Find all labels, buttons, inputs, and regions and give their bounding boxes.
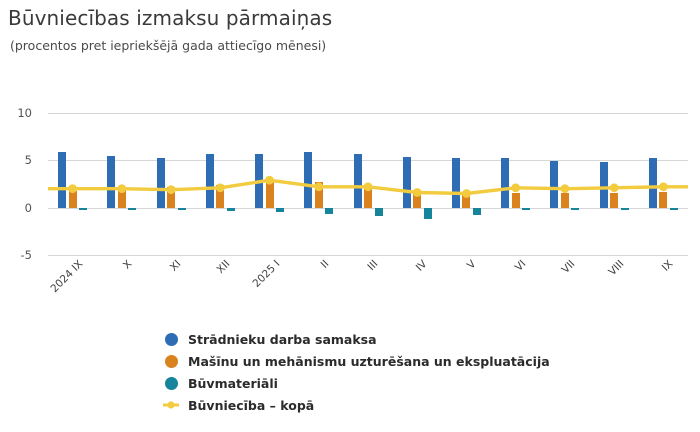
- x-axis-tick-label: X: [90, 258, 134, 302]
- bar-stradnieku[interactable]: [255, 154, 263, 208]
- bar-stradnieku[interactable]: [157, 158, 165, 207]
- bar-buvmateriali[interactable]: [473, 208, 481, 216]
- bar-buvmateriali[interactable]: [375, 208, 383, 217]
- legend-item-buvmateriali[interactable]: Būvmateriāli: [163, 373, 550, 393]
- bar-group: [58, 113, 87, 255]
- bar-buvmateriali[interactable]: [325, 208, 333, 215]
- chart-legend: Strādnieku darba samaksa Mašīnu un mehān…: [163, 329, 550, 417]
- bar-group: [354, 113, 383, 255]
- legend-item-stradnieku[interactable]: Strādnieku darba samaksa: [163, 329, 550, 349]
- x-axis-tick-label: V: [435, 258, 479, 302]
- bar-group: [304, 113, 333, 255]
- bar-masinu[interactable]: [610, 193, 618, 208]
- page-title: Būvniecības izmaksu pārmaiņas: [8, 6, 332, 30]
- bar-masinu[interactable]: [315, 182, 323, 208]
- bar-masinu[interactable]: [659, 192, 667, 208]
- bar-stradnieku[interactable]: [354, 154, 362, 208]
- plot-area: 1050-5: [48, 113, 688, 255]
- x-axis-tick-label: VI: [484, 258, 528, 302]
- bar-masinu[interactable]: [462, 193, 470, 208]
- bar-masinu[interactable]: [364, 185, 372, 208]
- bar-stradnieku[interactable]: [600, 162, 608, 207]
- bar-buvmateriali[interactable]: [79, 208, 87, 211]
- bar-buvmateriali[interactable]: [670, 208, 678, 210]
- bar-masinu[interactable]: [118, 190, 126, 208]
- bar-buvmateriali[interactable]: [227, 208, 235, 212]
- legend-label: Būvniecība – kopā: [188, 398, 314, 413]
- bar-stradnieku[interactable]: [452, 158, 460, 207]
- y-axis-tick-label: 5: [0, 153, 32, 167]
- legend-label: Būvmateriāli: [188, 376, 278, 391]
- x-axis-tick-label: VII: [534, 258, 578, 302]
- legend-swatch-orange-icon: [163, 353, 179, 369]
- bar-group: [649, 113, 678, 255]
- bar-group: [206, 113, 235, 255]
- y-axis-tick-label: -5: [0, 248, 32, 262]
- bar-buvmateriali[interactable]: [621, 208, 629, 210]
- bar-buvmateriali[interactable]: [276, 208, 284, 213]
- x-axis-tick-labels: 2024 IXXXIXII2025 IIIIIIIVVVIVIIVIIIIX: [48, 258, 688, 308]
- bar-stradnieku[interactable]: [206, 154, 214, 208]
- bar-buvmateriali[interactable]: [424, 208, 432, 219]
- bar-group: [452, 113, 481, 255]
- bar-masinu[interactable]: [561, 193, 569, 208]
- bar-group: [157, 113, 186, 255]
- bar-masinu[interactable]: [512, 193, 520, 207]
- x-axis-tick-label: VIII: [583, 258, 627, 302]
- chart-subtitle: (procentos pret iepriekšējā gada attiecī…: [10, 38, 326, 53]
- bar-group: [600, 113, 629, 255]
- x-axis-tick-label: 2024 IX: [41, 258, 85, 302]
- bar-buvmateriali[interactable]: [178, 208, 186, 211]
- legend-label: Strādnieku darba samaksa: [188, 332, 377, 347]
- x-axis-tick-label: IV: [386, 258, 430, 302]
- bar-stradnieku[interactable]: [403, 157, 411, 208]
- bar-group: [403, 113, 432, 255]
- legend-item-masinu[interactable]: Mašīnu un mehānismu uzturēšana un eksplu…: [163, 351, 550, 371]
- x-axis-tick-label: II: [287, 258, 331, 302]
- bar-group: [501, 113, 530, 255]
- bar-stradnieku[interactable]: [550, 161, 558, 207]
- bar-masinu[interactable]: [413, 191, 421, 208]
- legend-swatch-blue-icon: [163, 331, 179, 347]
- bar-stradnieku[interactable]: [107, 156, 115, 208]
- x-axis-tick-label: XII: [189, 258, 233, 302]
- bar-stradnieku[interactable]: [58, 152, 66, 208]
- bar-masinu[interactable]: [167, 187, 175, 208]
- legend-swatch-teal-icon: [163, 375, 179, 391]
- x-axis-tick-label: III: [337, 258, 381, 302]
- bar-buvmateriali[interactable]: [571, 208, 579, 210]
- bar-stradnieku[interactable]: [649, 158, 657, 207]
- bar-buvmateriali[interactable]: [128, 208, 136, 210]
- bar-group: [107, 113, 136, 255]
- bar-group: [255, 113, 284, 255]
- grid-line: [48, 255, 688, 256]
- legend-item-buvnieciba-kopa[interactable]: Būvniecība – kopā: [163, 395, 550, 415]
- x-axis-tick-label: 2025 I: [238, 258, 282, 302]
- bar-stradnieku[interactable]: [304, 152, 312, 208]
- bar-stradnieku[interactable]: [501, 158, 509, 207]
- chart-container: Būvniecības izmaksu pārmaiņas (procentos…: [0, 0, 700, 432]
- legend-label: Mašīnu un mehānismu uzturēšana un eksplu…: [188, 354, 550, 369]
- bar-masinu[interactable]: [266, 181, 274, 208]
- bar-masinu[interactable]: [69, 191, 77, 208]
- x-axis-tick-label: IX: [632, 258, 676, 302]
- bar-masinu[interactable]: [216, 185, 224, 208]
- bar-group: [550, 113, 579, 255]
- bar-buvmateriali[interactable]: [522, 208, 530, 211]
- y-axis-tick-label: 0: [0, 201, 32, 215]
- x-axis-tick-label: XI: [140, 258, 184, 302]
- y-axis-tick-label: 10: [0, 106, 32, 120]
- legend-swatch-line-icon: [163, 397, 179, 413]
